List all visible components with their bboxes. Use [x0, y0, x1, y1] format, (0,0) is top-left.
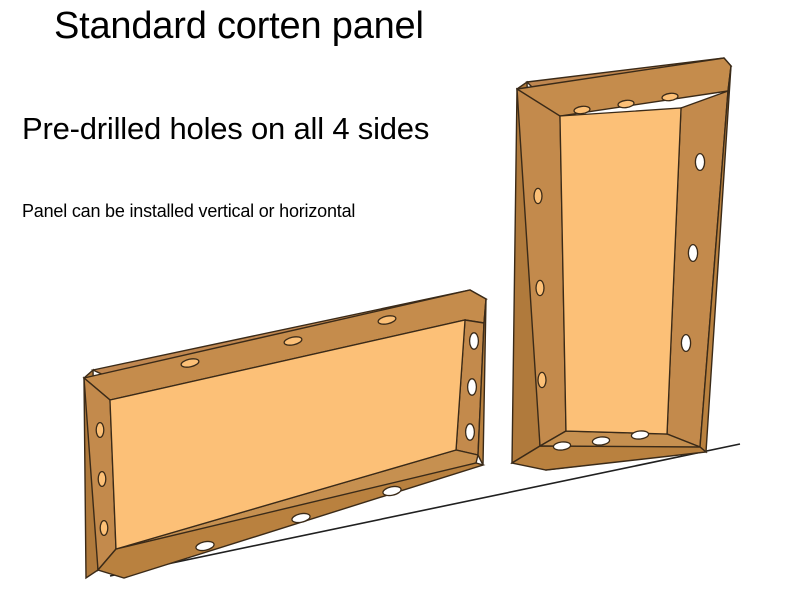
hole	[538, 372, 546, 387]
slide-canvas: Standard corten panel Pre-drilled holes …	[0, 0, 800, 600]
corten-panel-illustration	[0, 0, 800, 600]
note-orientation-text: Panel can be installed vertical or horiz…	[22, 199, 355, 223]
vertical-panel-inner-face	[560, 108, 681, 434]
hole	[695, 154, 704, 171]
horizontal-panel	[84, 290, 486, 578]
hole	[100, 521, 108, 536]
hole	[466, 424, 475, 440]
hole	[468, 379, 477, 395]
vertical-panel	[512, 58, 731, 470]
hole	[688, 245, 697, 262]
hole	[681, 335, 690, 352]
hole	[536, 280, 544, 295]
page-title: Standard corten panel	[54, 4, 424, 48]
hole	[96, 423, 104, 438]
hole	[470, 333, 479, 349]
subtitle-feature-text: Pre-drilled holes on all 4 sides	[22, 110, 429, 148]
hole	[98, 472, 106, 487]
hole	[534, 188, 542, 203]
